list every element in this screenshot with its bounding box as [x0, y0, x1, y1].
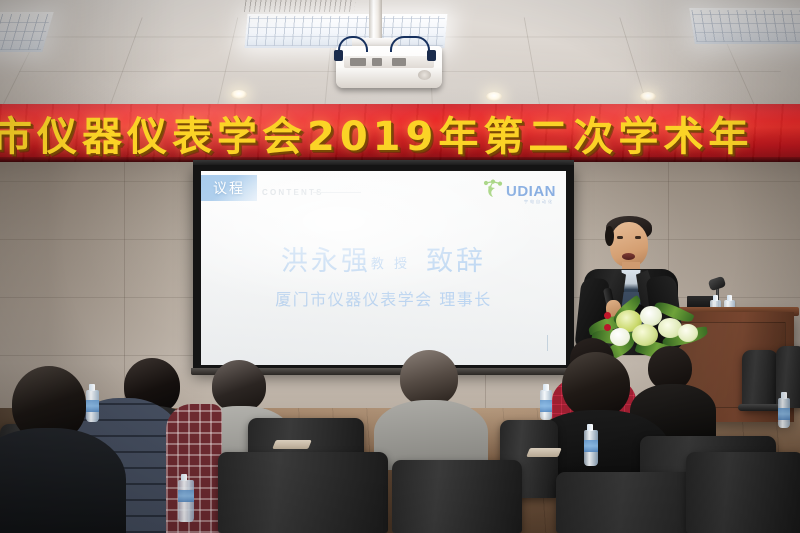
empty-chair: [742, 350, 778, 410]
audience-person-front-left-dark-coat: [0, 366, 116, 533]
projector-port: [372, 58, 382, 66]
projector-connector: [427, 50, 436, 61]
slide-title-action: 致辞: [426, 246, 486, 277]
person-torso: [0, 428, 126, 533]
event-banner: 市仪器仪表学会2019年第二次学术年: [0, 104, 800, 162]
slide-agenda-badge: 议程: [201, 175, 257, 201]
person-head: [212, 360, 266, 412]
flower-red-accent: [604, 312, 611, 319]
projected-slide: 议程 CONTENTS UDIAN 宇电自动化 洪永强教 授致辞: [201, 171, 566, 365]
agenda-badge-label: 议程: [213, 178, 245, 198]
conference-hall-photo: 市仪器仪表学会2019年第二次学术年 议程 CONTENTS: [0, 0, 800, 533]
speaker-eye: [635, 236, 641, 239]
flower-bloom: [678, 324, 698, 342]
person-head: [562, 352, 630, 418]
udian-leaf-icon: [482, 179, 504, 199]
slide-subtitle: 厦门市仪器仪表学会 理事长: [201, 286, 566, 310]
chair-writing-tablet: [526, 448, 562, 457]
audience-water-bottle: [584, 430, 598, 466]
udian-logo-text: UDIAN: [506, 184, 556, 199]
projector-connector: [334, 50, 343, 61]
bottle-label: [778, 408, 790, 420]
flower-red-accent: [604, 324, 611, 331]
projector-port: [350, 58, 366, 66]
audience-chair: [392, 460, 522, 533]
udian-logo-subtext: 宇电自动化: [524, 199, 554, 205]
person-head: [400, 350, 458, 406]
udian-logo: UDIAN 宇电自动化: [482, 177, 556, 199]
banner-title-text: 市仪器仪表学会2019年第二次学术年: [0, 104, 753, 162]
projector-cable: [390, 36, 430, 52]
audience-water-bottle: [178, 480, 194, 522]
audience-chair: [218, 452, 388, 533]
audience-water-bottle: [778, 398, 790, 428]
bottle-label: [584, 440, 598, 452]
slide-speaker-name: 洪永强: [281, 246, 371, 277]
flower-bloom: [632, 324, 658, 346]
slide-header-rule: [313, 192, 361, 193]
speaker-hair-side: [605, 226, 614, 246]
slide-cursor-mark: [547, 335, 548, 351]
audience-person-balding: [382, 350, 478, 456]
audience-person-red-plaid-shirt: [166, 404, 222, 533]
speaker-mouth: [622, 253, 635, 260]
slide-title-line: 洪永强教 授致辞: [201, 239, 566, 278]
logo-svg: [482, 179, 504, 199]
speaker-eye: [617, 236, 623, 239]
projector-lens: [418, 70, 431, 80]
projector-port: [392, 58, 406, 66]
slide-speaker-honorific: 教 授: [371, 257, 410, 272]
audience-chair: [686, 452, 800, 533]
bottle-label: [178, 490, 194, 502]
chair-armrest: [738, 404, 782, 411]
projector-mount-pole: [369, 0, 382, 42]
chair-writing-tablet: [272, 440, 312, 449]
speaker-head: [610, 222, 648, 267]
